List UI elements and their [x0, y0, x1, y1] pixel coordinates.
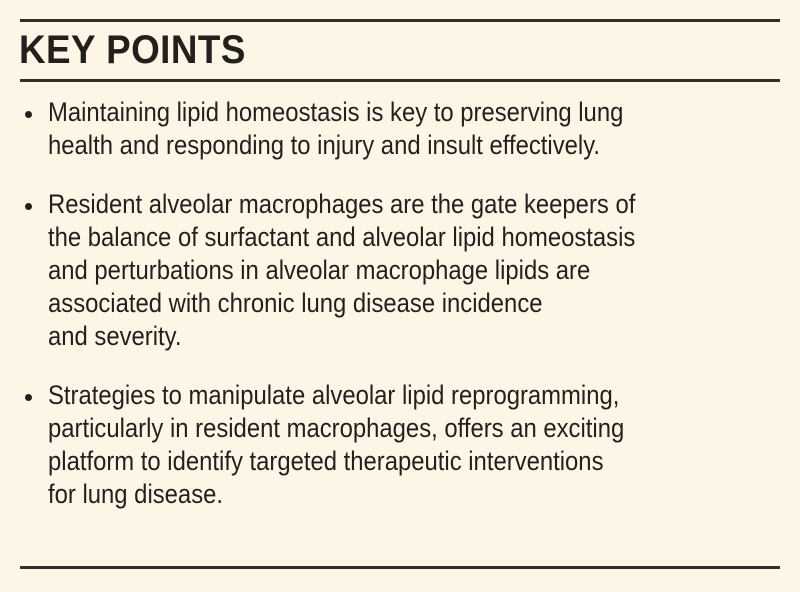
text-line: Maintaining lipid homeostasis is key to … — [48, 96, 775, 129]
key-points-list: Maintaining lipid homeostasis is key to … — [0, 96, 800, 511]
divider-bottom — [20, 566, 780, 569]
key-points-box: KEY POINTS Maintaining lipid homeostasis… — [0, 0, 800, 592]
list-item: Strategies to manipulate alveolar lipid … — [0, 379, 800, 511]
list-item: Resident alveolar macrophages are the ga… — [0, 188, 800, 353]
text-line: associated with chronic lung disease inc… — [48, 287, 775, 320]
text-line: and perturbations in alveolar macrophage… — [48, 254, 775, 287]
page-title: KEY POINTS — [19, 28, 246, 72]
list-item-text: Maintaining lipid homeostasis is key to … — [48, 96, 775, 162]
bullet-dot-icon — [25, 394, 32, 401]
text-line: the balance of surfactant and alveolar l… — [48, 221, 775, 254]
list-item-text: Resident alveolar macrophages are the ga… — [48, 188, 775, 353]
text-line: Strategies to manipulate alveolar lipid … — [48, 379, 775, 412]
bullet-dot-icon — [25, 203, 32, 210]
text-line: Resident alveolar macrophages are the ga… — [48, 188, 775, 221]
text-line: platform to identify targeted therapeuti… — [48, 445, 775, 478]
text-line: health and responding to injury and insu… — [48, 129, 775, 162]
text-line: particularly in resident macrophages, of… — [48, 412, 775, 445]
list-item-text: Strategies to manipulate alveolar lipid … — [48, 379, 775, 511]
divider-top — [20, 19, 780, 22]
list-item: Maintaining lipid homeostasis is key to … — [0, 96, 800, 162]
text-line: and severity. — [48, 320, 775, 353]
text-line: for lung disease. — [48, 478, 775, 511]
divider-under-title — [20, 79, 780, 82]
bullet-dot-icon — [25, 111, 32, 118]
